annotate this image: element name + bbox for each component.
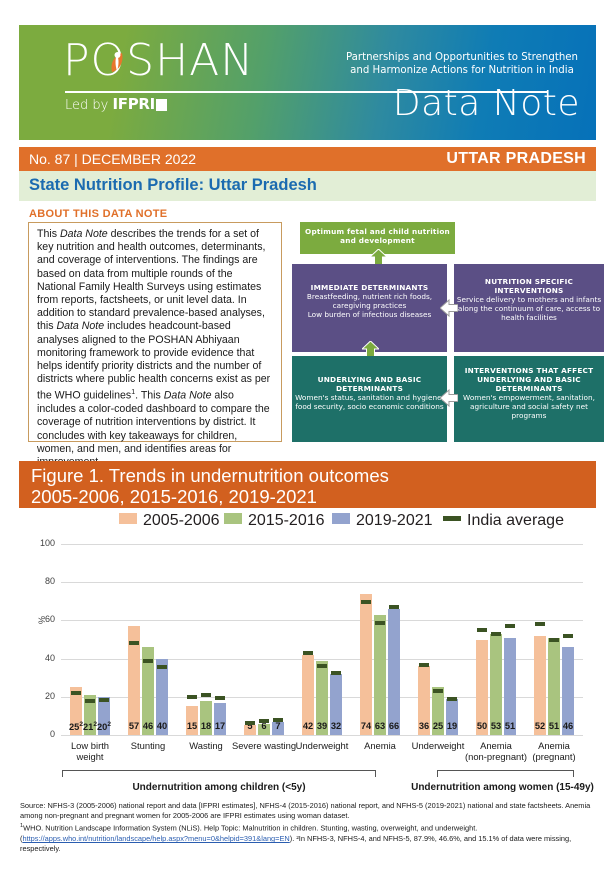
header-tagline: Partnerships and Opportunities to Streng… — [337, 51, 587, 77]
who-nlis-link[interactable]: https://apps.who.int/nutrition/landscape… — [22, 834, 289, 843]
undernutrition-bar-chart: % 020406080100252212202Low birth weight5… — [19, 534, 596, 766]
india-average-marker-0-5 — [361, 600, 372, 604]
india-average-marker-2-3 — [273, 718, 284, 722]
bracket-children-label: Undernutrition among children (<5y) — [62, 782, 376, 793]
diagram-box-underlying-basic-determinants: UNDERLYING AND BASIC DETERMINANTS Women'… — [292, 356, 447, 442]
diagram-box-title: Optimum fetal and child nutrition and de… — [300, 227, 455, 245]
x-category-label-2: Wasting — [173, 740, 239, 751]
india-average-marker-1-6 — [433, 689, 444, 693]
figure-title: Figure 1. Trends in undernutrition outco… — [31, 465, 389, 507]
bar-1-7 — [490, 634, 503, 735]
y-tick-100: 100 — [19, 538, 55, 548]
india-average-marker-2-8 — [563, 634, 574, 638]
y-tick-0: 0 — [19, 729, 55, 739]
legend-label-0: 2005-2006 — [143, 512, 220, 530]
india-average-marker-0-2 — [187, 695, 198, 699]
india-average-marker-0-3 — [245, 721, 256, 725]
india-average-marker-1-1 — [143, 659, 154, 663]
figure-title-bar: Figure 1. Trends in undernutrition outco… — [19, 461, 596, 508]
poshan-logo-text: POSHAN — [63, 39, 254, 83]
india-average-marker-2-4 — [331, 671, 342, 675]
gridline-0 — [61, 735, 583, 736]
bar-2-5 — [388, 609, 401, 735]
india-average-marker-2-1 — [157, 665, 168, 669]
india-average-marker-2-2 — [215, 696, 226, 700]
x-category-label-4: Underweight — [289, 740, 355, 751]
diagram-box-body: Women's status, sanitation and hygiene, … — [292, 393, 447, 411]
figure-title-line2: 2005-2006, 2015-2016, 2019-2021 — [31, 486, 317, 507]
legend-swatch-1 — [224, 513, 242, 524]
bar-value-2-5: 66 — [386, 721, 403, 731]
india-average-marker-1-5 — [375, 621, 386, 625]
nutrition-framework-diagram: Optimum fetal and child nutrition and de… — [292, 222, 604, 442]
header-banner: POSHAN Led by IFPRI Partnerships and Opp… — [19, 25, 596, 140]
figure-title-line1: Figure 1. Trends in undernutrition outco… — [31, 465, 389, 486]
bar-value-2-8: 46 — [560, 721, 577, 731]
bar-value-2-7: 51 — [502, 721, 519, 731]
x-category-label-7: Anemia(non-pregnant) — [463, 740, 529, 762]
legend-line-india-average — [443, 516, 461, 521]
india-average-marker-0-0 — [71, 691, 82, 695]
chart-legend: 2005-20062015-20162019-2021India average — [19, 511, 596, 527]
diagram-box-immediate-determinants: IMMEDIATE DETERMINANTS Breastfeeding, nu… — [292, 264, 447, 352]
bar-value-2-0: 202 — [96, 721, 113, 732]
legend-label-1: 2015-2016 — [248, 512, 325, 530]
x-category-label-5: Anemia — [347, 740, 413, 751]
x-category-label-0: Low birth weight — [57, 740, 123, 762]
india-average-marker-1-7 — [491, 632, 502, 636]
left-arrow-icon-1 — [440, 298, 458, 318]
india-average-marker-1-3 — [259, 719, 270, 723]
legend-swatch-2 — [332, 513, 350, 524]
india-average-marker-1-4 — [317, 664, 328, 668]
diagram-box-interventions-underlying: INTERVENTIONS THAT AFFECT UNDERLYING AND… — [454, 356, 604, 442]
legend-swatch-0 — [119, 513, 137, 524]
india-average-marker-1-8 — [549, 638, 560, 642]
y-tick-60: 60 — [19, 614, 55, 624]
poshan-leaf-icon — [105, 50, 130, 77]
logo-subtitle: Led by IFPRI — [65, 95, 167, 113]
india-average-marker-0-7 — [477, 628, 488, 632]
diagram-box-title: UNDERLYING AND BASIC DETERMINANTS — [292, 375, 447, 393]
gridline-80 — [61, 582, 583, 583]
bar-value-2-4: 32 — [328, 721, 345, 731]
diagram-box-body: Service delivery to mothers and infants … — [454, 295, 604, 323]
x-category-label-8: Anemia(pregnant) — [521, 740, 587, 762]
diagram-box-title: IMMEDIATE DETERMINANTS — [292, 283, 447, 292]
y-tick-20: 20 — [19, 691, 55, 701]
bar-value-2-1: 40 — [154, 721, 171, 731]
footnote-who: 1WHO. Nutrition Landscape Information Sy… — [20, 821, 598, 854]
india-average-marker-2-0 — [99, 698, 110, 702]
bar-0-5 — [360, 594, 373, 735]
gridline-60 — [61, 620, 583, 621]
diagram-box-title: NUTRITION SPECIFIC INTERVENTIONS — [454, 277, 604, 295]
ifpri-mark-icon — [156, 99, 167, 111]
state-name: UTTAR PRADESH — [446, 150, 586, 168]
gridline-100 — [61, 544, 583, 545]
x-category-label-6: Underweight — [405, 740, 471, 751]
about-body-text: This Data Note describes the trends for … — [37, 228, 273, 469]
india-average-marker-0-8 — [535, 622, 546, 626]
diagram-box-body: Breastfeeding, nutrient rich foods, care… — [292, 292, 447, 320]
data-note-label: Data Note — [393, 83, 580, 124]
profile-title-bar: State Nutrition Profile: Uttar Pradesh — [19, 171, 596, 201]
x-category-label-3: Severe wasting — [231, 740, 297, 751]
bracket-women — [437, 770, 574, 777]
issue-bar: No. 87 | DECEMBER 2022 UTTAR PRADESH — [19, 147, 596, 171]
india-average-marker-1-2 — [201, 693, 212, 697]
india-average-marker-0-1 — [129, 641, 140, 645]
about-heading: ABOUT THIS DATA NOTE — [29, 208, 167, 220]
diagram-box-nutrition-specific-interventions: NUTRITION SPECIFIC INTERVENTIONS Service… — [454, 264, 604, 352]
about-box: This Data Note describes the trends for … — [28, 222, 282, 442]
diagram-box-title: INTERVENTIONS THAT AFFECT UNDERLYING AND… — [454, 366, 604, 393]
y-tick-40: 40 — [19, 653, 55, 663]
india-average-marker-1-0 — [85, 699, 96, 703]
india-average-marker-2-6 — [447, 697, 458, 701]
bar-1-5 — [374, 615, 387, 735]
bar-value-2-3: 7 — [270, 721, 287, 731]
india-average-marker-2-5 — [389, 605, 400, 609]
issue-number: No. 87 | DECEMBER 2022 — [29, 151, 196, 167]
y-tick-80: 80 — [19, 576, 55, 586]
india-average-marker-0-6 — [419, 663, 430, 667]
x-category-label-1: Stunting — [115, 740, 181, 751]
footnote-source: Source: NFHS-3 (2005-2006) national repo… — [20, 801, 598, 821]
left-arrow-icon-2 — [440, 388, 458, 408]
bar-value-2-6: 19 — [444, 721, 461, 731]
footnotes: Source: NFHS-3 (2005-2006) national repo… — [20, 801, 598, 854]
india-average-marker-2-7 — [505, 624, 516, 628]
bracket-children — [62, 770, 376, 777]
diagram-box-body: Women's empowerment, sanitation, agricul… — [454, 393, 604, 421]
bracket-women-label: Undernutrition among women (15-49y) — [390, 782, 615, 793]
bar-value-2-2: 17 — [212, 721, 229, 731]
page-title: State Nutrition Profile: Uttar Pradesh — [29, 176, 317, 195]
india-average-marker-0-4 — [303, 651, 314, 655]
legend-label-2: 2019-2021 — [356, 512, 433, 530]
legend-label-3: India average — [467, 512, 564, 530]
